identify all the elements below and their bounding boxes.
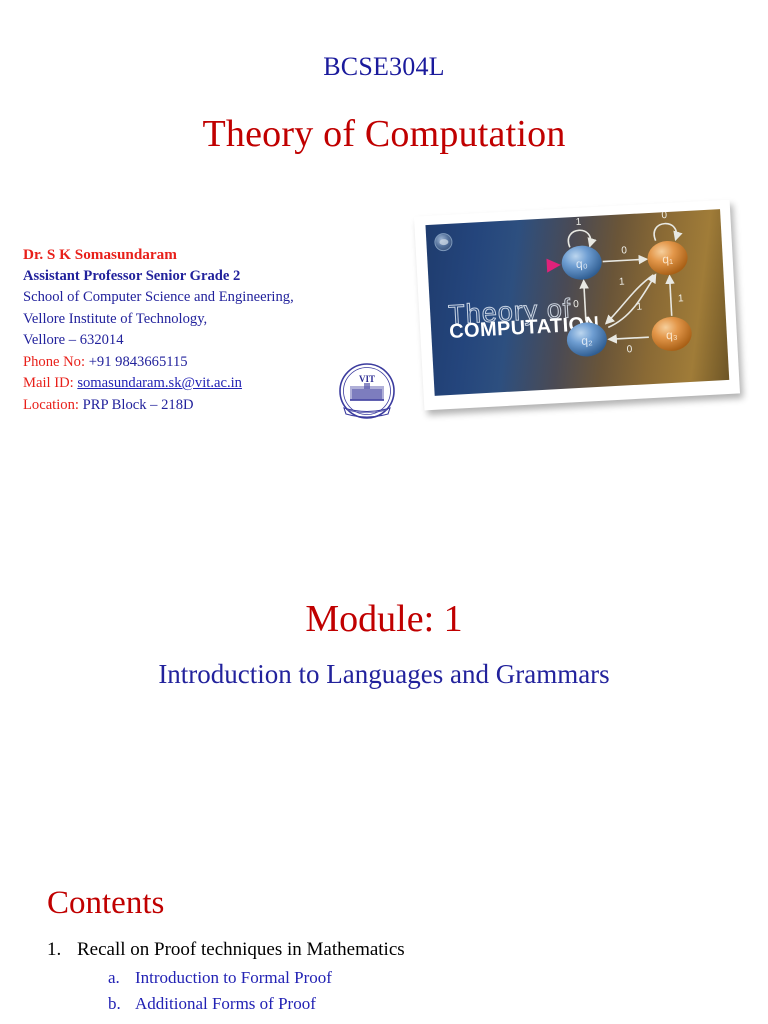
course-title: Theory of Computation [0,112,768,156]
dfa-diagram: 1 0 0 0 1 [538,209,727,389]
photo-frame: Theory of COMPUTATION [414,200,740,411]
svg-text:0: 0 [621,245,628,256]
list-item: b. Additional Forms of Proof [108,991,667,1017]
module-subtitle: Introduction to Languages and Grammars [0,659,768,690]
svg-text:q₂: q₂ [581,333,593,348]
location-label: Location: [23,397,79,413]
instructor-designation: Assistant Professor Senior Grade 2 [23,266,413,288]
svg-text:1: 1 [619,276,626,287]
instructor-city-pin: Vellore – 632014 [23,330,413,352]
mail-label: Mail ID: [23,375,74,391]
svg-text:q₁: q₁ [662,252,673,267]
svg-text:q₀: q₀ [576,256,588,271]
list-item-marker: b. [108,991,135,1017]
svg-text:1: 1 [678,293,685,304]
list-item-label: Additional Forms of Proof [135,991,316,1017]
instructor-school: School of Computer Science and Engineeri… [23,287,413,309]
vit-logo-seal: VIT [332,358,402,428]
svg-text:q₃: q₃ [666,328,678,343]
svg-text:1: 1 [575,217,582,228]
list-item: 1. Recall on Proof techniques in Mathema… [47,936,667,963]
phone-label: Phone No: [23,354,85,370]
list-item-marker: 1. [47,936,77,963]
contents-list: 1. Recall on Proof techniques in Mathema… [47,936,667,1017]
course-banner-image: Theory of COMPUTATION [419,204,749,418]
dfa-svg-icon: 1 0 0 0 1 [538,209,727,396]
contents-heading: Contents [47,885,164,922]
instructor-name: Dr. S K Somasundaram [23,244,413,266]
svg-text:VIT: VIT [359,374,375,384]
slide-page: BCSE304L Theory of Computation Dr. S K S… [0,0,768,1024]
list-item-marker: a. [108,965,135,991]
photo-content: Theory of COMPUTATION [425,209,729,396]
location-value: PRP Block – 218D [83,397,194,413]
list-item-label: Introduction to Formal Proof [135,965,332,991]
svg-text:0: 0 [573,299,580,310]
email-link[interactable]: somasundaram.sk@vit.ac.in [77,375,242,391]
svg-text:0: 0 [626,344,633,355]
vit-seal-icon: VIT [332,358,402,428]
instructor-institute: Vellore Institute of Technology, [23,309,413,331]
module-title: Module: 1 [0,597,768,641]
phone-value: +91 9843665115 [89,354,188,370]
list-item: a. Introduction to Formal Proof [108,965,667,991]
emblem-badge-icon [434,233,453,252]
start-state-marker-icon [546,258,561,273]
course-code: BCSE304L [0,52,768,82]
svg-text:1: 1 [636,301,643,312]
list-item-label: Recall on Proof techniques in Mathematic… [77,936,405,963]
svg-text:0: 0 [661,210,668,221]
